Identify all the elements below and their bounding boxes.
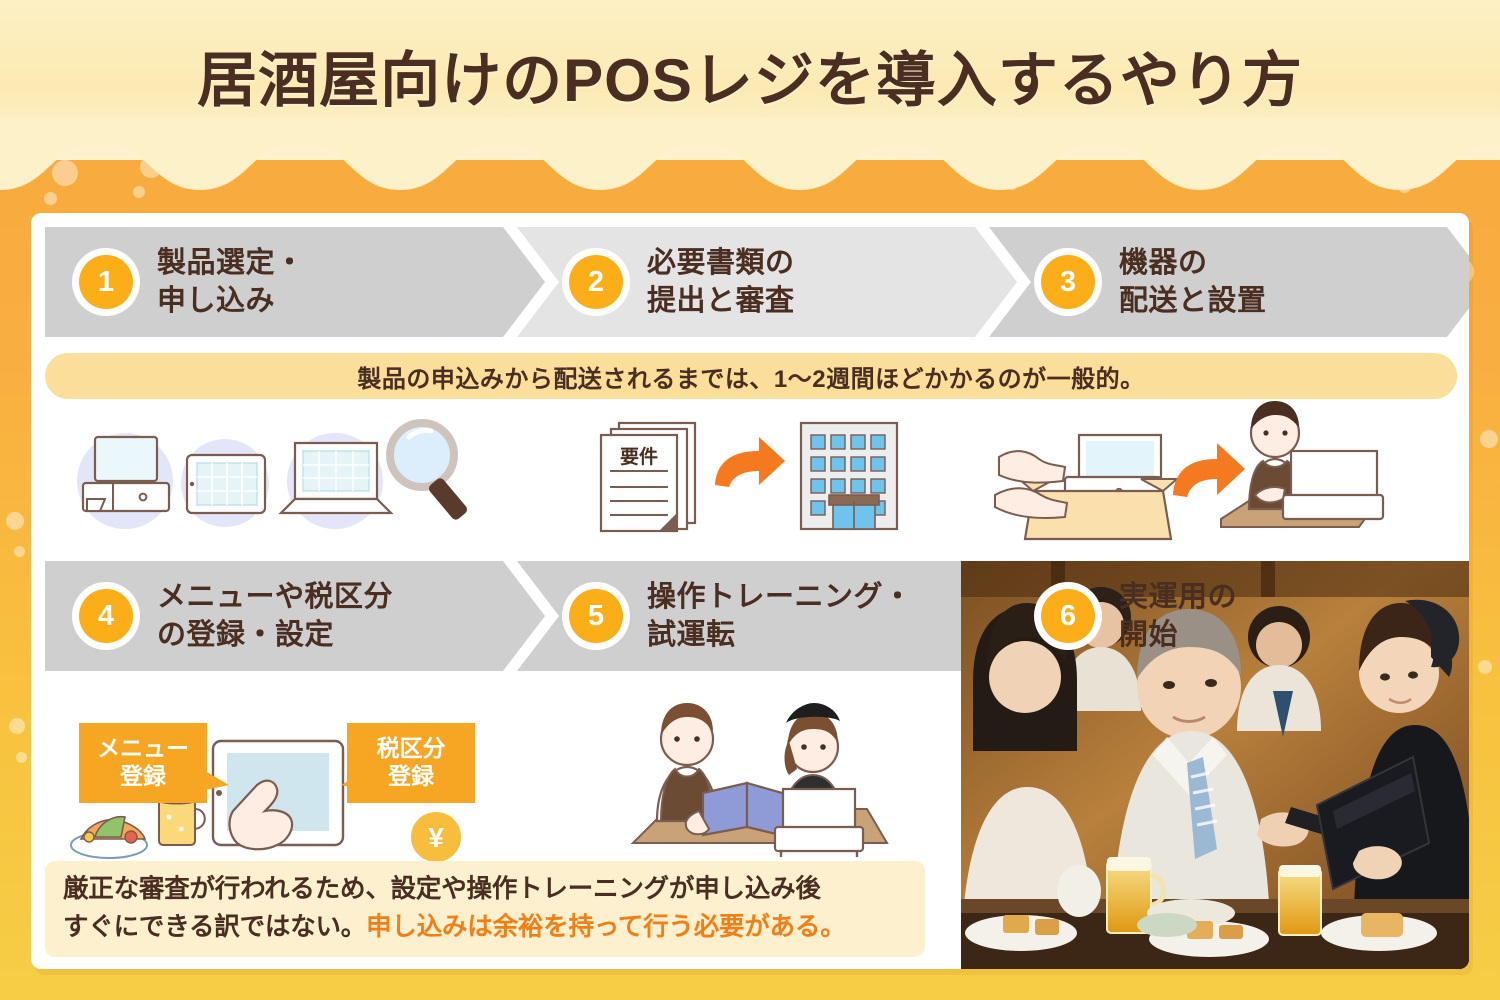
step-number-badge: 4 (79, 589, 133, 643)
callout-tax-registration: 税区分 登録 (347, 723, 475, 803)
step-chevron-4[interactable]: 4 メニューや税区分 の登録・設定 (45, 561, 545, 671)
step-label: 機器の 配送と設置 (1119, 244, 1267, 321)
bubble-decoration (52, 160, 78, 186)
step-number-badge: 6 (1041, 589, 1095, 643)
step-chevron-2[interactable]: 2 必要書類の 提出と審査 (517, 227, 1017, 337)
bubble-decoration (1478, 660, 1492, 674)
bubble-decoration (16, 752, 27, 763)
step-label: 製品選定・ 申し込み (157, 244, 305, 321)
footer-caption: 厳正な審査が行われるため、設定や操作トレーニングが申し込み後 すぐにできる訳では… (45, 861, 925, 957)
step-number-badge: 1 (79, 255, 133, 309)
caption-line-2: すぐにできる訳ではない。申し込みは余裕を持って行う必要がある。 (63, 909, 907, 947)
chevron-content: 5 操作トレーニング・ 試運転 (517, 561, 913, 671)
bubble-decoration (1398, 180, 1411, 193)
bubble-decoration (9, 718, 25, 734)
bubble-decoration (6, 512, 24, 530)
callout-menu-registration: メニュー 登録 (79, 723, 207, 803)
chevron-content: 4 メニューや税区分 の登録・設定 (45, 561, 393, 671)
bubble-decoration (44, 192, 57, 205)
illustration-operation-training (601, 693, 921, 873)
page-title: 居酒屋向けのPOSレジを導入するやり方 (197, 32, 1303, 119)
step-chevron-3[interactable]: 3 機器の 配送と設置 (989, 227, 1469, 337)
step-label: 実運用の 開始 (1119, 578, 1237, 655)
chevron-content: 1 製品選定・ 申し込み (45, 227, 305, 337)
step-number-badge: 5 (569, 589, 623, 643)
yen-icon: ¥ (428, 822, 444, 853)
steps-row-top: 1 製品選定・ 申し込み 2 必要書類の 提出と審査 3 機器の 配送と設置 (45, 227, 1457, 337)
step-chevron-1[interactable]: 1 製品選定・ 申し込み (45, 227, 545, 337)
chevron-content: 3 機器の 配送と設置 (989, 227, 1267, 337)
bubble-decoration (1006, 178, 1018, 190)
bubble-decoration (14, 546, 25, 557)
step-number-badge: 3 (1041, 255, 1095, 309)
illustration-document-review: 要件 (579, 409, 919, 539)
step-label: 操作トレーニング・ 試運転 (647, 578, 913, 655)
note-bar: 製品の申込みから配送されるまでは、1〜2週間ほどかかるのが一般的。 (45, 353, 1457, 399)
caption-line-2-highlight: 申し込みは余裕を持って行う必要がある。 (366, 913, 845, 941)
illustration-delivery-install (991, 399, 1391, 549)
step-chevron-5[interactable]: 5 操作トレーニング・ 試運転 (517, 561, 1017, 671)
page-title-wrap: 居酒屋向けのPOSレジを導入するやり方 (0, 0, 1500, 150)
caption-line-2-plain: すぐにできる訳ではない。 (63, 913, 366, 941)
bubble-decoration (1480, 430, 1498, 448)
note-bar-text: 製品の申込みから配送されるまでは、1〜2週間ほどかかるのが一般的。 (357, 359, 1144, 394)
illustration-device-selection (67, 409, 497, 539)
content-card: 1 製品選定・ 申し込み 2 必要書類の 提出と審査 3 機器の 配送と設置 (31, 213, 1469, 969)
step-label: 必要書類の 提出と審査 (647, 244, 795, 321)
chevron-content: 2 必要書類の 提出と審査 (517, 227, 795, 337)
step-label: メニューや税区分 の登録・設定 (157, 578, 393, 655)
document-label: 要件 (620, 445, 658, 468)
hand-icon (999, 451, 1065, 483)
arrow-icon (715, 437, 785, 487)
arrow-icon (1173, 443, 1245, 497)
caption-line-1: 厳正な審査が行われるため、設定や操作トレーニングが申し込み後 (63, 871, 907, 909)
bubble-decoration (133, 186, 145, 198)
chevron-content: 6 実運用の 開始 (989, 561, 1237, 671)
step-number-badge: 2 (569, 255, 623, 309)
infographic-page: 居酒屋向けのPOSレジを導入するやり方 1 製品選定・ 申し込み 2 必要書類の… (0, 0, 1500, 1000)
